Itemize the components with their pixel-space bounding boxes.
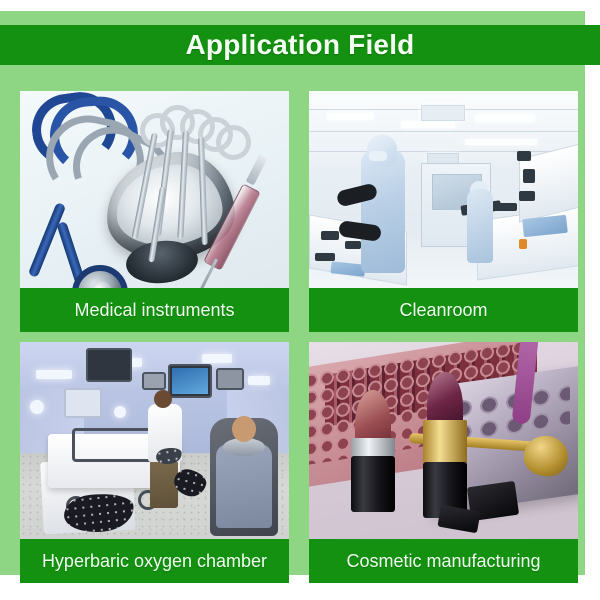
equipment-icon [321,231,339,240]
card-caption-text: Cosmetic manufacturing [346,552,540,570]
ceiling-diffuser-icon [421,105,465,121]
medical-instruments-image [20,91,289,288]
card-hyperbaric-oxygen-chamber[interactable]: Hyperbaric oxygen chamber [20,342,289,583]
wall-monitor-icon [168,364,212,398]
second-worker [467,189,493,263]
ceiling-light-icon [202,354,232,363]
card-caption-bar: Cosmetic manufacturing [309,539,578,583]
equipment-icon [523,169,535,183]
control-panel-icon [64,388,102,418]
cleanroom-image [309,91,578,288]
patient-head [232,416,256,442]
equipment-icon [315,253,335,261]
wall-vent-icon [216,368,244,390]
ceiling-monitor-icon [86,348,132,382]
monitor-screen [172,368,208,394]
cleanroom-worker [361,149,405,273]
doctor-head [154,390,172,408]
ceiling-light-icon [401,121,455,128]
application-field-banner: Application Field [0,0,600,600]
worker-mask [369,151,387,161]
equipment-icon [345,241,361,249]
lipstick-collar [423,420,467,464]
equipment-icon [517,151,531,161]
lipstick-base [351,456,395,512]
lipstick-collar [351,438,395,456]
card-cleanroom[interactable]: Cleanroom [309,91,578,332]
cosmetic-manufacturing-image [309,342,578,539]
ceiling-light-icon [327,113,373,120]
card-caption-bar: Medical instruments [20,288,289,332]
spot-light-icon [30,400,44,414]
wall-panel-icon [142,372,166,390]
application-card-grid: Medical instruments [20,91,578,576]
card-caption-text: Hyperbaric oxygen chamber [42,552,267,570]
ceiling-seam [309,131,578,132]
ceiling-light-icon [465,139,537,145]
card-caption-text: Cleanroom [399,301,487,319]
ceiling-light-icon [475,115,535,122]
card-caption-bar: Hyperbaric oxygen chamber [20,539,289,583]
banner-header: Application Field [0,25,600,65]
patient-body [216,444,272,528]
orange-marker-icon [519,239,527,249]
equipment-icon [519,191,535,201]
spot-light-icon [114,406,126,418]
card-caption-bar: Cleanroom [309,288,578,332]
ceiling-light-icon [248,376,270,385]
page-title: Application Field [186,31,415,59]
ceiling-light-icon [36,370,72,379]
card-cosmetic-manufacturing[interactable]: Cosmetic manufacturing [309,342,578,583]
ceiling-seam [309,151,578,152]
card-caption-text: Medical instruments [74,301,234,319]
card-medical-instruments[interactable]: Medical instruments [20,91,289,332]
kidney-dish-interior [112,160,226,251]
hyperbaric-chamber-image [20,342,289,539]
